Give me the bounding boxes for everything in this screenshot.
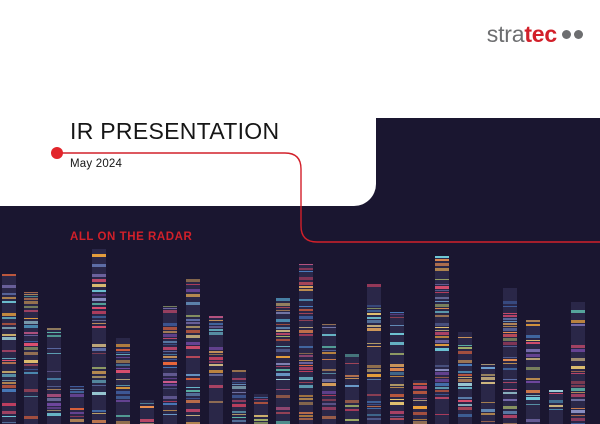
page-title: IR PRESENTATION [70, 119, 370, 144]
logo-dot-icon [574, 30, 583, 39]
logo-text-red: tec [524, 23, 557, 46]
title-block: IR PRESENTATION [70, 119, 370, 144]
slide-tagline: ALL ON THE RADAR [70, 231, 192, 243]
logo-dot-icon [562, 30, 571, 39]
presentation-slide: IR PRESENTATION May 2024 ALL ON THE RADA… [0, 0, 600, 424]
dark-rounded-panel [374, 121, 600, 241]
logo-dots [559, 30, 583, 39]
stratec-logo: stra tec [487, 21, 583, 47]
red-bullet-dot [51, 147, 63, 159]
slide-date: May 2024 [70, 158, 122, 170]
logo-text-gray: stra [487, 23, 525, 46]
white-title-card [0, 0, 376, 206]
dna-gel-graphic [0, 224, 600, 424]
